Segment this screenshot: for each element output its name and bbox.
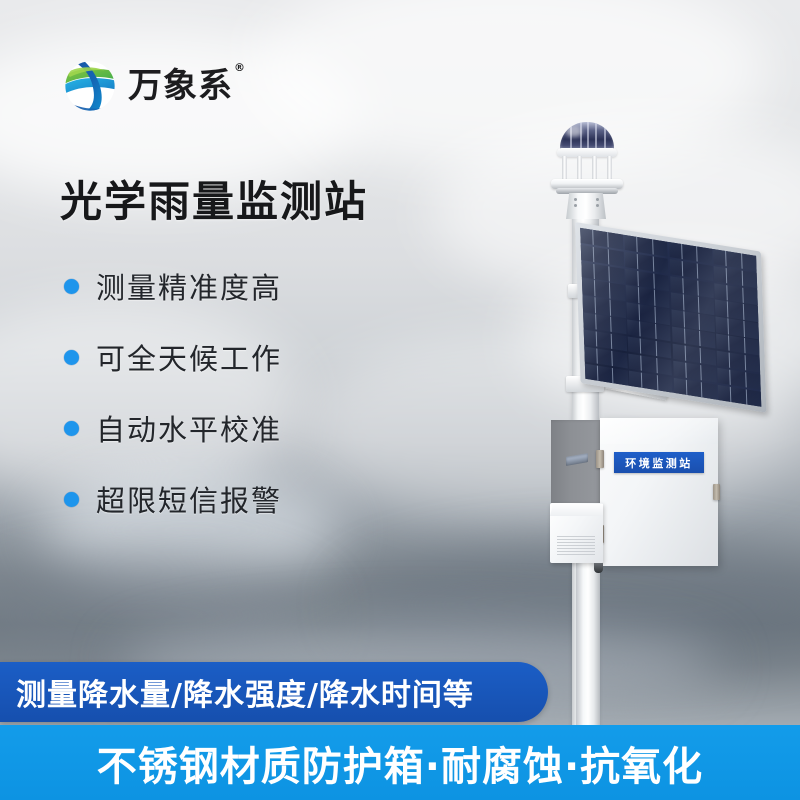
feature-label: 测量精准度高 [96, 265, 282, 307]
list-item: 可全天候工作 [64, 333, 282, 381]
globe-swoosh-logo-icon [62, 58, 118, 114]
page-title: 光学雨量监测站 [60, 168, 368, 229]
product-poster: 环境监测站 [0, 0, 800, 800]
sensor-housing-icon [566, 193, 606, 219]
stainless-steel-cabinet-icon [600, 418, 718, 566]
brand-name-text: 万象系® [128, 69, 245, 103]
feature-list: 测量精准度高 可全天候工作 自动水平校准 超限短信报警 [64, 262, 282, 546]
blue-dot-icon [64, 492, 79, 507]
cabinet-hinge-top-icon [596, 450, 604, 468]
junction-box-grill-icon [557, 536, 595, 556]
measurement-capability-banner: 测量降水量/降水强度/降水时间等 [0, 662, 548, 722]
cabinet-latch-icon [713, 484, 720, 500]
registered-trademark-icon: ® [234, 61, 246, 74]
blue-dot-icon [64, 350, 79, 365]
blue-dot-icon [64, 279, 79, 294]
banner-pill-text: 测量降水量/降水强度/降水时间等 [16, 670, 474, 714]
material-highlight-footer: 不锈钢材质防护箱·耐腐蚀·抗氧化 [0, 725, 800, 800]
list-item: 测量精准度高 [64, 262, 282, 310]
cabinet-cable-gland-icon [594, 563, 603, 573]
blue-dot-icon [64, 421, 79, 436]
cabinet-nameplate: 环境监测站 [614, 452, 704, 473]
brand-name-label: 万象系 [128, 66, 233, 106]
brand-logo: 万象系® [62, 58, 245, 114]
cabinet-label-text: 环境监测站 [625, 455, 693, 471]
feature-label: 可全天候工作 [96, 336, 282, 378]
list-item: 超限短信报警 [64, 475, 282, 523]
list-item: 自动水平校准 [64, 404, 282, 452]
vented-junction-box-icon [550, 503, 603, 563]
sensor-support-posts-icon [560, 156, 614, 180]
footer-text: 不锈钢材质防护箱·耐腐蚀·抗氧化 [97, 734, 703, 792]
solar-panel-icon [575, 222, 766, 413]
feature-label: 自动水平校准 [96, 407, 282, 449]
feature-label: 超限短信报警 [96, 478, 282, 520]
